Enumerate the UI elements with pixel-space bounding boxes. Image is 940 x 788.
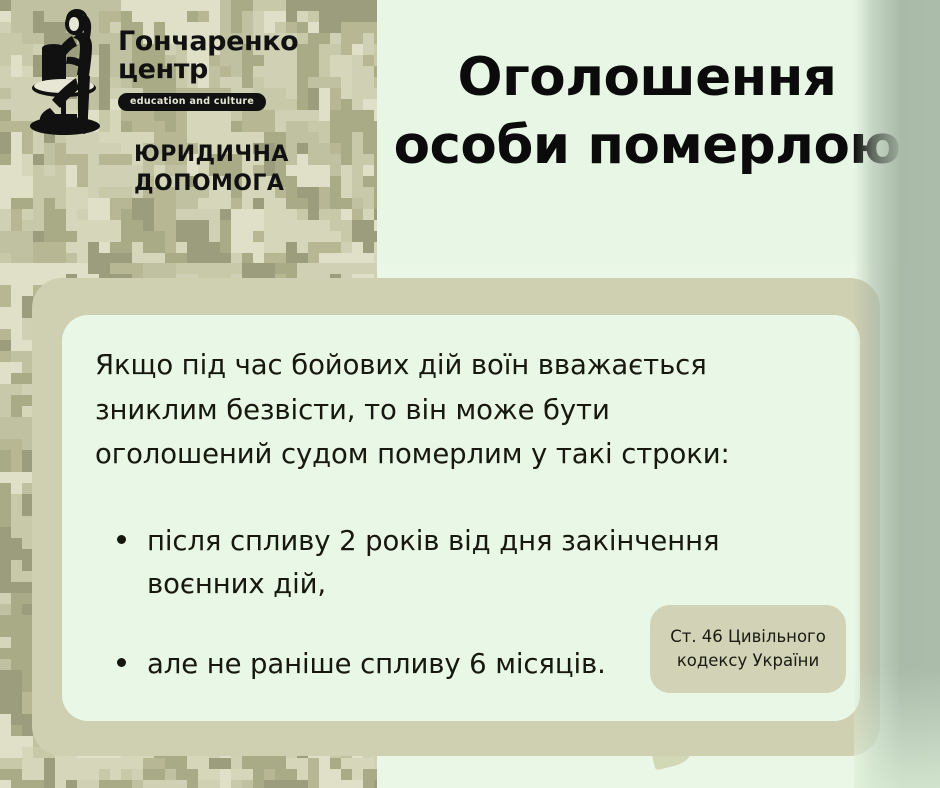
brand-subtitle-line-2: ДОПОМОГА	[134, 169, 289, 198]
intro-line-1: Якщо під час бойових дій воїн вважається	[95, 343, 815, 388]
brand-name-block: Гончаренко центр education and culture	[118, 28, 298, 111]
page-title: Оголошення особи померлою	[377, 44, 917, 180]
brand-logo: Гончаренко центр education and culture Ю…	[22, 8, 322, 208]
brand-name-line-2: центр	[118, 56, 298, 84]
potter-at-wheel-icon	[22, 8, 114, 138]
brand-name-line-1: Гончаренко	[118, 28, 298, 56]
intro-line-3: оголошений судом померлим у такі строки:	[95, 432, 815, 477]
brand-subtitle-line-1: ЮРИДИЧНА	[134, 140, 289, 169]
bullet-1-line-2: воєнних дій,	[147, 563, 844, 606]
citation-badge: Ст. 46 Цивільного кодексу України	[650, 605, 846, 693]
bullet-1-line-1: після спливу 2 років від дня закінчення	[147, 520, 844, 563]
list-item: після спливу 2 років від дня закінчення …	[114, 520, 844, 605]
page-title-line-2: особи померлою	[377, 112, 917, 180]
header-panel: Оголошення особи померлою	[377, 0, 940, 263]
page-title-line-1: Оголошення	[377, 44, 917, 112]
brand-tagline-badge: education and culture	[118, 93, 266, 111]
brand-subtitle: ЮРИДИЧНА ДОПОМОГА	[134, 140, 289, 199]
intro-paragraph: Якщо під час бойових дій воїн вважається…	[95, 343, 815, 477]
intro-line-2: зниклим безвісти, то він може бути	[95, 388, 815, 433]
poster-canvas: Оголошення особи померлою	[0, 0, 940, 788]
brand-name: Гончаренко центр	[118, 28, 298, 85]
